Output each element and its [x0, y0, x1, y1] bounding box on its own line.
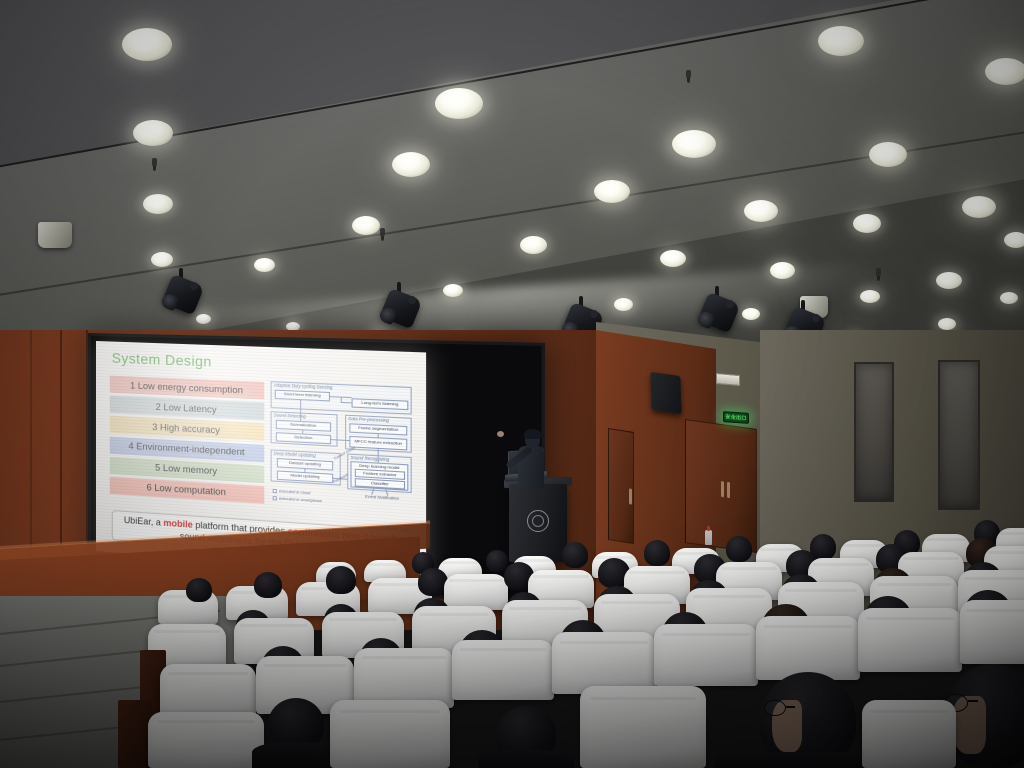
ceiling-downlight [985, 58, 1024, 85]
sprinkler-head [876, 268, 881, 277]
podium [509, 484, 567, 562]
presenter [505, 425, 551, 487]
architecture-diagram: Adaptive Duty-cycling Sensing Short-term… [271, 381, 412, 516]
audience-head [186, 578, 212, 602]
slide-title: System Design [112, 350, 212, 370]
sprinkler-head [686, 70, 691, 79]
arch-legend-cloud: executed in cloud [273, 489, 311, 495]
ceiling-downlight [143, 194, 173, 214]
ceiling-downlight [672, 130, 716, 158]
arch-connector [304, 469, 305, 472]
door-handle [727, 482, 730, 498]
eyeglass-bridge [786, 706, 795, 708]
ceiling-downlight [443, 284, 463, 297]
ceiling-downlight [1004, 232, 1024, 248]
presenter-hand [497, 431, 504, 437]
requirement-label: 5 Low memory [155, 463, 217, 477]
ceiling-downlight [742, 308, 760, 320]
seat-end-panel [118, 700, 152, 768]
audience-head [326, 566, 356, 594]
arch-connector [302, 430, 303, 433]
ceiling-downlight [744, 200, 778, 222]
ceiling [0, 0, 1024, 352]
requirement-label: 2 Low Latency [156, 401, 217, 414]
door-right[interactable] [685, 419, 757, 553]
arch-connector [378, 434, 379, 437]
ceiling-downlight [936, 272, 962, 289]
seat [960, 600, 1024, 664]
seat [858, 608, 962, 672]
spotlight-knob [190, 282, 198, 290]
ceiling-downlight [962, 196, 996, 218]
ceiling-downlight [938, 318, 956, 330]
ceiling-downlight [860, 290, 880, 303]
door-handle [721, 481, 724, 497]
ceiling-downlight [660, 250, 686, 267]
door-left[interactable] [608, 428, 634, 544]
seat [330, 700, 450, 768]
exit-sign-text: 安全出口 [725, 413, 746, 421]
seat [756, 616, 860, 680]
audience-head [562, 542, 588, 568]
door-handle [629, 488, 632, 504]
exit-sign: 安全出口 [723, 411, 749, 424]
spotlight-knob [408, 296, 416, 304]
ceiling-downlight [818, 26, 864, 56]
ceiling-downlight [435, 88, 483, 119]
ceiling-downlight [520, 236, 547, 254]
audience-shoulders [478, 750, 574, 768]
sprinkler-head [380, 228, 385, 237]
presenter-hair [524, 429, 541, 439]
ceiling-downlight [352, 216, 380, 235]
stage-spotlight [166, 268, 200, 314]
ceiling-downlight [151, 252, 173, 267]
audience-shoulders [252, 742, 342, 768]
audience-head [254, 572, 282, 598]
ceiling-downlight [392, 152, 430, 177]
ceiling-downlight [133, 120, 173, 146]
seat [552, 632, 656, 694]
seat [354, 648, 454, 708]
requirement-label: 1 Low energy consumption [130, 380, 243, 395]
stage-spotlight [384, 282, 418, 328]
ceiling-downlight [614, 298, 633, 311]
spotlight-knob [590, 310, 598, 318]
seat [580, 686, 706, 768]
seat [862, 700, 956, 768]
legend-label-cloud: executed in cloud [279, 489, 310, 495]
arch-legend-smartphone: executed in smartphone [273, 496, 322, 503]
arch-connector [378, 449, 379, 463]
spotlight-knob [812, 314, 820, 322]
ceiling-downlight [770, 262, 795, 279]
university-emblem [527, 510, 549, 532]
ceiling-downlight [254, 258, 275, 272]
seat [444, 574, 508, 610]
ceiling-downlight [1000, 292, 1018, 304]
legend-swatch-cloud [273, 489, 277, 493]
ceiling-downlight [853, 214, 881, 233]
eyeglass-lens [764, 700, 786, 716]
water-bottle [705, 530, 712, 545]
auditorium-photo: 安全出口 System Design 1 Low energy consumpt… [0, 0, 1024, 768]
ceiling-downlight [196, 314, 211, 324]
legend-label-smartphone: executed in smartphone [279, 496, 322, 503]
caption-seg-1: UbiEar, a [124, 515, 164, 528]
audience-head [726, 536, 752, 562]
ceiling-downlight [869, 142, 907, 167]
window-shade-right[interactable] [938, 360, 980, 510]
requirement-label: 3 High accuracy [152, 422, 220, 436]
legend-swatch-smartphone [273, 496, 277, 500]
audience-head [644, 540, 670, 566]
stage-spotlight [702, 286, 736, 332]
seat [654, 624, 758, 686]
spotlight-knob [726, 300, 734, 308]
ceiling-downlight [122, 28, 172, 61]
eyeglass-bridge [968, 700, 978, 702]
wall-plaque [716, 373, 740, 386]
ceiling-speaker [38, 222, 72, 248]
window-shade-left[interactable] [854, 362, 894, 502]
requirement-label: 4 Environment-independent [128, 441, 244, 458]
arch-event-notification: Event Notification [360, 494, 404, 501]
seat [148, 712, 264, 768]
arch-connector [300, 400, 301, 421]
requirement-label: 6 Low computation [147, 483, 226, 498]
requirements-list: 1 Low energy consumption 2 Low Latency 3… [110, 376, 265, 507]
wall-speaker [650, 372, 681, 414]
sprinkler-head [152, 158, 157, 167]
caption-highlight-mobile: mobile [163, 517, 192, 529]
seat [452, 640, 554, 700]
ceiling-downlight [594, 180, 630, 203]
